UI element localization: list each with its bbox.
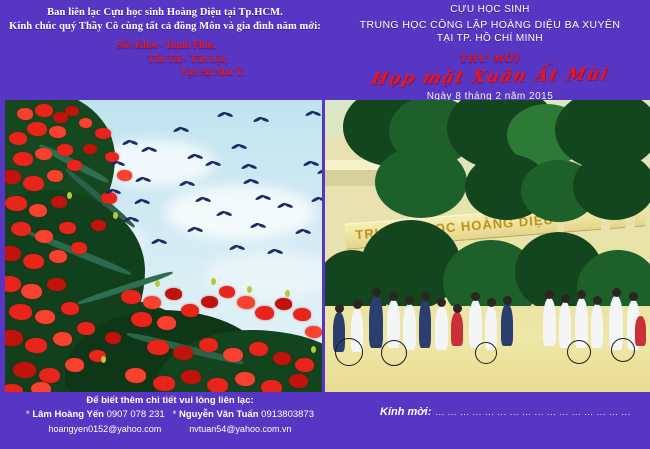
wish-line-3: Vạn Sự Như Ý. <box>0 66 330 80</box>
greeting-line: Kính chúc quý Thầy Cô cùng tất cả đồng M… <box>0 20 330 34</box>
header-right: CỰU HỌC SINH TRUNG HỌC CÔNG LẬP HOÀNG DI… <box>330 0 650 100</box>
event-title-script: Họp mặt Xuân Ất Mùi <box>327 63 650 91</box>
contact-2-bullet: * <box>173 409 177 420</box>
invite-label: Kính mời: <box>380 406 431 418</box>
invitation-card: Ban liên lạc Cựu học sinh Hoàng Diệu tại… <box>0 0 650 449</box>
contact-2-email[interactable]: nvtuan54@yahoo.com.vn <box>189 422 291 436</box>
contact-names-row: * Lâm Hoàng Yến 0907 078 231 * Nguyễn Vă… <box>0 408 340 422</box>
footer-contacts: Để biết thêm chi tiết vui lòng liên lạc:… <box>0 394 340 436</box>
contact-1-name: Lâm Hoàng Yến <box>32 409 104 420</box>
contact-2-name: Nguyễn Văn Tuấn <box>179 409 259 420</box>
org-line-3: TẠI TP. HỒ CHÍ MINH <box>330 32 650 47</box>
contact-emails-row: hoangyen0152@yahoo.com nvtuan54@yahoo.co… <box>0 422 340 436</box>
org-line-2: TRUNG HỌC CÔNG LẬP HOÀNG DIỆU BA XUYÊN <box>330 18 650 33</box>
photo-flowers-birds <box>5 100 322 392</box>
invite-dotted-line: ... ... ... ... ... ... ... ... ... ... … <box>435 407 630 417</box>
header-left: Ban liên lạc Cựu học sinh Hoàng Diệu tại… <box>0 0 330 100</box>
org-line-1: CỰU HỌC SINH <box>330 3 650 18</box>
contact-1-phone: 0907 078 231 <box>107 409 165 420</box>
wish-line-1: Sức Khỏe - Hạnh Phúc, <box>0 39 330 53</box>
invitation-label: THƯ MỜI <box>330 51 650 66</box>
header: Ban liên lạc Cựu học sinh Hoàng Diệu tại… <box>0 0 650 100</box>
footer: Để biết thêm chi tiết vui lòng liên lạc:… <box>0 392 650 449</box>
contact-1-email[interactable]: hoangyen0152@yahoo.com <box>49 422 162 436</box>
wishes-block: Sức Khỏe - Hạnh Phúc, Tấn Tài - Tấn Lộc,… <box>0 39 330 80</box>
wish-line-2: Tấn Tài - Tấn Lộc, <box>0 53 330 67</box>
photo-school: TRƯỜNG HỌC HOÀNG DIỆU <box>325 100 650 392</box>
invite-line: Kính mời: ... ... ... ... ... ... ... ..… <box>380 406 631 418</box>
contact-1-bullet: * <box>26 409 30 420</box>
contact-2-phone: 0913803873 <box>261 409 314 420</box>
committee-line: Ban liên lạc Cựu học sinh Hoàng Diệu tại… <box>0 6 330 20</box>
contact-title: Để biết thêm chi tiết vui lòng liên lạc: <box>0 394 340 408</box>
